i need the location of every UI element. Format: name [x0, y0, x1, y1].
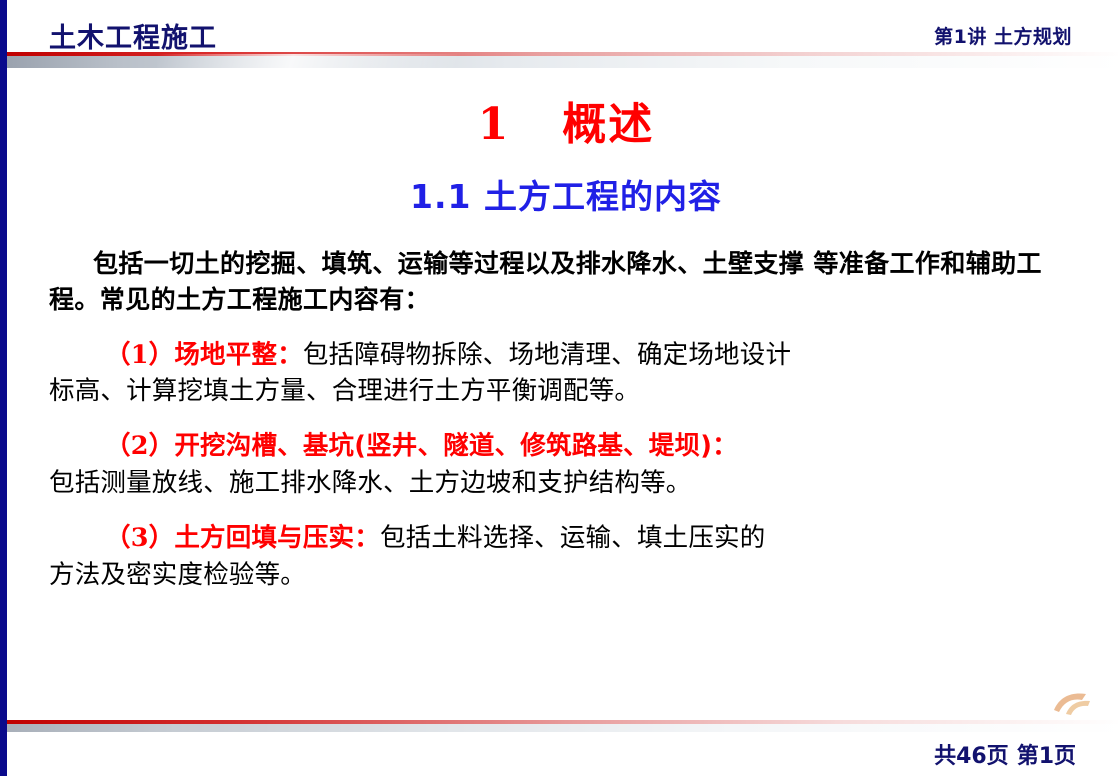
list-item-1-keyword: 场地平整: [174, 340, 277, 370]
list-item-1-number: （1）: [105, 340, 174, 370]
list-item-1: （1）场地平整：包括障碍物拆除、场地清理、确定场地设计 标高、计算挖填土方量、合…: [49, 337, 1083, 411]
list-item-3-text-b: 方法及密实度检验等。: [49, 560, 306, 590]
footer-gray-bar: [7, 724, 1118, 732]
list-item-3: （3）土方回填与压实：包括土料选择、运输、填土压实的 方法及密实度检验等。: [49, 520, 1083, 594]
section-heading-number: 1: [478, 99, 511, 150]
footer-page-info: 共46页第1页: [934, 738, 1076, 770]
intro-line-1: 包括一切土的挖掘、填筑、运输等过程以及排水降水、土壁支撑: [93, 249, 804, 278]
total-pages-label: 共46页: [934, 744, 1009, 769]
subsection-heading: 1.1 土方工程的内容: [7, 170, 1118, 218]
list-item-3-number: （3）: [105, 523, 174, 553]
list-item-1-first-line: （1）场地平整：包括障碍物拆除、场地清理、确定场地设计: [49, 337, 1083, 374]
course-title: 土木工程施工: [49, 16, 217, 55]
list-item-3-colon: ：: [354, 523, 380, 553]
list-item-3-keyword: 土方回填与压实: [174, 523, 354, 553]
list-item-2-keyword: 开挖沟槽、基坑(竖井、隧道、修筑路基、堤坝): [174, 431, 712, 461]
list-item-3-text-a: 包括土料选择、运输、填土压实的: [380, 523, 766, 553]
list-item-1-text-a: 包括障碍物拆除、场地清理、确定场地设计: [303, 340, 791, 370]
section-heading: 1 概述: [7, 88, 1118, 152]
list-item-2-text-b: 包括测量放线、施工排水降水、土方边坡和支护结构等。: [49, 468, 692, 498]
slide-body: 1 概述 1.1 土方工程的内容 包括一切土的挖掘、填筑、运输等过程以及排水降水…: [7, 66, 1118, 706]
section-heading-text: 概述: [562, 99, 654, 150]
list-item-1-text-b: 标高、计算挖填土方量、合理进行土方平衡调配等。: [49, 376, 640, 406]
list-item-2-number: （2）: [105, 431, 174, 461]
current-page-label: 第1页: [1017, 744, 1076, 769]
list-item-2-first-line: （2）开挖沟槽、基坑(竖井、隧道、修筑路基、堤坝)：: [49, 428, 1083, 465]
list-item-2-colon: ：: [712, 431, 738, 461]
watermark-logo-icon: [1052, 688, 1094, 718]
slide: 土木工程施工 第1讲 土方规划 1 概述 1.1 土方工程的内容 包括一切土的挖…: [0, 0, 1118, 776]
list-item-3-first-line: （3）土方回填与压实：包括土料选择、运输、填土压实的: [49, 520, 1083, 557]
lecture-label: 第1讲 土方规划: [934, 22, 1072, 49]
slide-header: 土木工程施工 第1讲 土方规划: [7, 0, 1118, 66]
list-item-1-colon: ：: [277, 340, 303, 370]
intro-paragraph: 包括一切土的挖掘、填筑、运输等过程以及排水降水、土壁支撑 等准备工作和辅助工程。…: [49, 246, 1083, 319]
list-item-2: （2）开挖沟槽、基坑(竖井、隧道、修筑路基、堤坝)： 包括测量放线、施工排水降水…: [49, 428, 1083, 502]
